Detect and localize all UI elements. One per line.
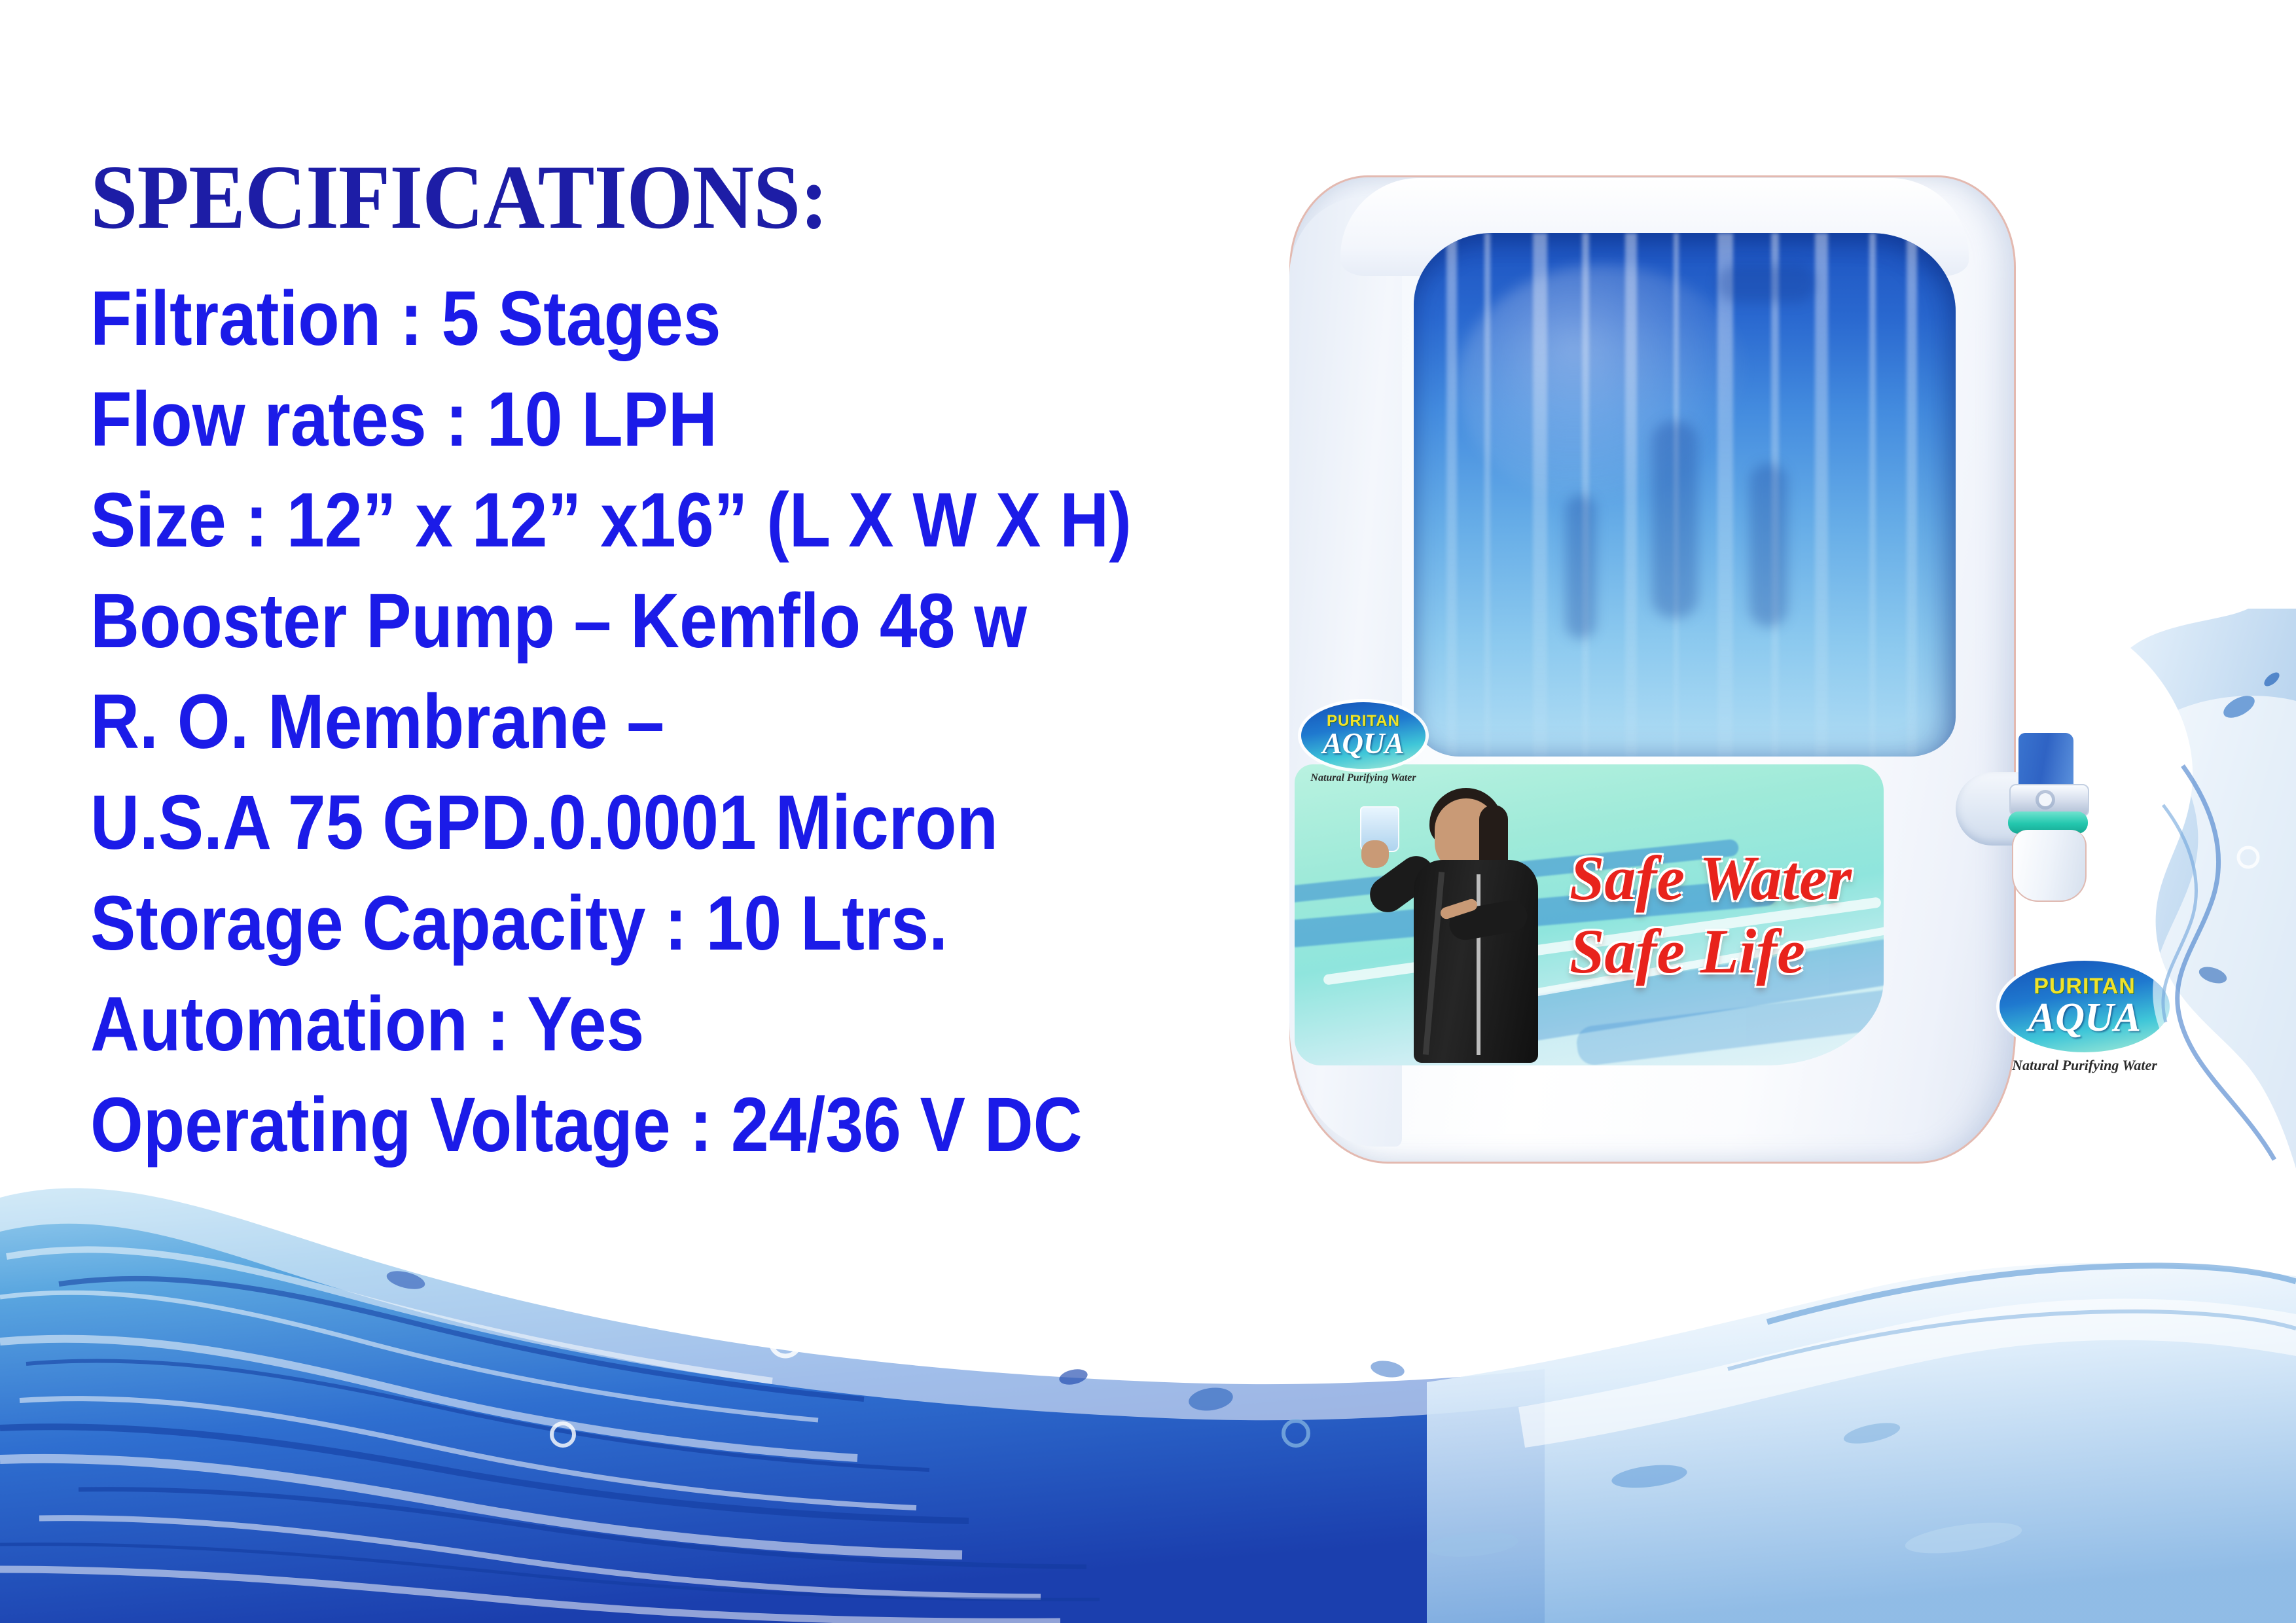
brand-logo-aqua-text-small: AQUA: [1322, 729, 1404, 758]
spec-item-membrane-detail: U.S.A 75 GPD.0.0001 Micron: [90, 772, 1185, 873]
faucet-screw-icon: [2039, 793, 2052, 806]
specifications-block: SPECIFICATIONS: Filtration : 5 Stages Fl…: [90, 152, 1334, 1175]
specifications-list: Filtration : 5 Stages Flow rates : 10 LP…: [90, 268, 1334, 1175]
spec-item-flow-rates: Flow rates : 10 LPH: [90, 369, 1185, 470]
faucet-spout: [2012, 830, 2087, 902]
brand-logo-aqua-text: AQUA: [2028, 997, 2141, 1038]
page-title: SPECIFICATIONS:: [90, 152, 1247, 243]
spec-item-filtration: Filtration : 5 Stages: [90, 268, 1185, 369]
spec-item-storage-capacity: Storage Capacity : 10 Ltrs.: [90, 873, 1185, 974]
water-splash-bottom: [0, 1126, 2296, 1623]
spec-item-automation: Automation : Yes: [90, 974, 1185, 1075]
slogan-line-1: Safe Water: [1570, 842, 1852, 915]
water-purifier-image: Safe Water Safe Life PURITAN AQUA Natura…: [1289, 175, 2016, 1164]
slogan-line-2: Safe Life: [1570, 915, 1852, 988]
water-splash-right: [2052, 609, 2296, 1250]
brand-logo-puritan-text-small: PURITAN: [1327, 713, 1400, 729]
spec-item-booster-pump: Booster Pump – Kemflo 48 w: [90, 571, 1185, 671]
brand-logo-oval: PURITAN AQUA: [2000, 961, 2170, 1052]
spec-item-ro-membrane: R. O. Membrane –: [90, 671, 1185, 772]
tank-highlight: [1457, 264, 1749, 505]
poster-canvas: SPECIFICATIONS: Filtration : 5 Stages Fl…: [0, 0, 2296, 1623]
spec-item-operating-voltage: Operating Voltage : 24/36 V DC: [90, 1075, 1185, 1175]
girl-jacket-zip: [1477, 874, 1480, 1055]
girl-illustration: [1357, 768, 1554, 1064]
brand-logo-front: PURITAN AQUA Natural Purifying Water: [2000, 961, 2170, 1074]
brand-logo-tagline: Natural Purifying Water: [2000, 1057, 2170, 1074]
spec-item-size: Size : 12” x 12” x16” (L X W X H): [90, 470, 1185, 571]
girl-hand: [1361, 840, 1389, 868]
brand-logo-puritan-text: PURITAN: [2034, 975, 2136, 997]
product-label-sticker: Safe Water Safe Life: [1295, 764, 1884, 1065]
faucet[interactable]: [1956, 733, 2119, 903]
purifier-water-tank: [1414, 233, 1956, 757]
product-slogan: Safe Water Safe Life: [1570, 842, 1852, 988]
